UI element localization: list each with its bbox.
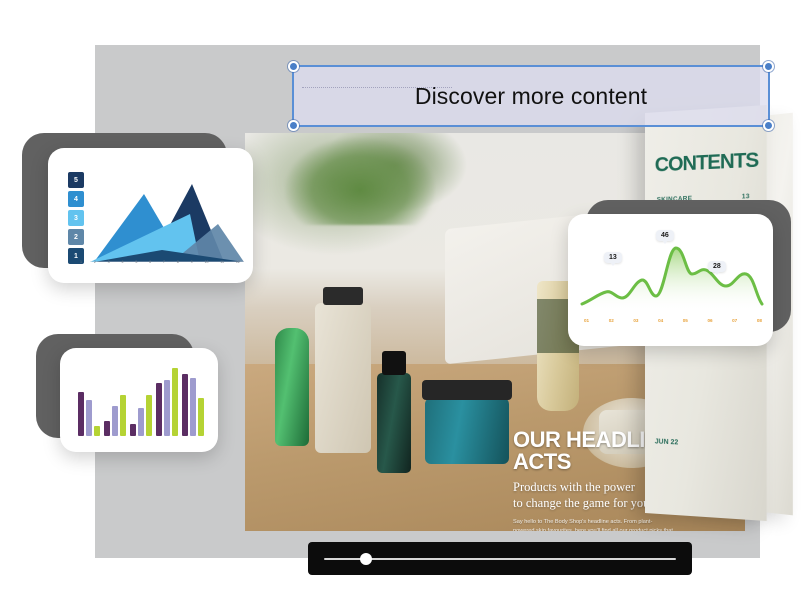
tick: 08: [757, 318, 762, 323]
tick: 04: [658, 318, 663, 323]
tick: 05: [683, 318, 688, 323]
resize-handle-top-left[interactable]: [288, 61, 299, 72]
bar: [138, 408, 144, 436]
tick: 9: [191, 260, 193, 264]
product-lid: [422, 380, 512, 400]
tick: 2: [94, 260, 96, 264]
area-chart-plot: [72, 166, 247, 262]
bar: [130, 424, 136, 436]
bar-group: [156, 368, 178, 436]
tick: 5: [135, 260, 137, 264]
bar: [112, 406, 118, 436]
tick: 03: [633, 318, 638, 323]
bar-group: [130, 395, 152, 436]
tick: 8: [177, 260, 179, 264]
bar: [146, 395, 152, 436]
product-charcoal-jar: [425, 398, 509, 464]
bar-chart-plot: [78, 362, 204, 436]
bar-group: [182, 374, 204, 436]
line-chart-card[interactable]: 13 46 28 01 02 03 04 05 06 07 08: [568, 214, 773, 346]
product-labeled-jar: [315, 303, 371, 453]
product-cap: [323, 287, 363, 305]
tick: 3: [108, 260, 110, 264]
bar: [78, 392, 84, 436]
tick: 11: [220, 260, 224, 264]
resize-handle-bottom-right[interactable]: [763, 120, 774, 131]
tick: 07: [732, 318, 737, 323]
bar: [190, 378, 196, 436]
product-cap: [382, 351, 406, 375]
slider-thumb[interactable]: [360, 553, 372, 565]
bar: [198, 398, 204, 436]
magazine-footer-label: JUN 22: [655, 438, 678, 446]
tick: 12: [236, 260, 240, 264]
tick: 02: [609, 318, 614, 323]
bar-group: [78, 392, 100, 436]
data-label-46: 46: [656, 230, 674, 241]
bar: [86, 400, 92, 436]
bar: [156, 383, 162, 436]
bar-group: [104, 395, 126, 436]
selected-text-box[interactable]: Discover more content: [292, 65, 770, 127]
data-label-28: 28: [708, 261, 726, 272]
tick: 1: [80, 260, 82, 264]
headline-body-copy: Say hello to The Body Shop's headline ac…: [513, 518, 673, 531]
tick: 7: [163, 260, 165, 264]
product-tea-tree-oil: [377, 373, 411, 473]
bar: [172, 368, 178, 436]
playback-slider[interactable]: [308, 542, 692, 575]
line-chart-x-ticks: 01 02 03 04 05 06 07 08: [584, 318, 762, 323]
tick: 10: [204, 260, 208, 264]
bar: [104, 421, 110, 436]
plant-decoration: [285, 137, 435, 225]
text-placeholder-line: [302, 87, 452, 88]
tick: 06: [707, 318, 712, 323]
tick: 01: [584, 318, 589, 323]
slider-track[interactable]: [324, 558, 676, 560]
data-label-13: 13: [604, 252, 622, 263]
bar: [94, 426, 100, 436]
tick: 4: [121, 260, 123, 264]
product-green-bottle: [275, 328, 309, 446]
bar: [164, 380, 170, 436]
area-chart-card[interactable]: 5 4 3 2 1 1 2 3 4 5 6 7 8 9 10 11 12: [48, 148, 253, 283]
bar: [182, 374, 188, 436]
resize-handle-bottom-left[interactable]: [288, 120, 299, 131]
bar: [120, 395, 126, 436]
tick: 6: [149, 260, 151, 264]
screenshot-root: OUR HEADLINE ACTS Products with the powe…: [0, 0, 801, 601]
contents-title: CONTENTS: [655, 149, 758, 177]
resize-handle-top-right[interactable]: [763, 61, 774, 72]
area-chart-x-ticks: 1 2 3 4 5 6 7 8 9 10 11 12: [80, 260, 240, 264]
bar-chart-card[interactable]: [60, 348, 218, 452]
